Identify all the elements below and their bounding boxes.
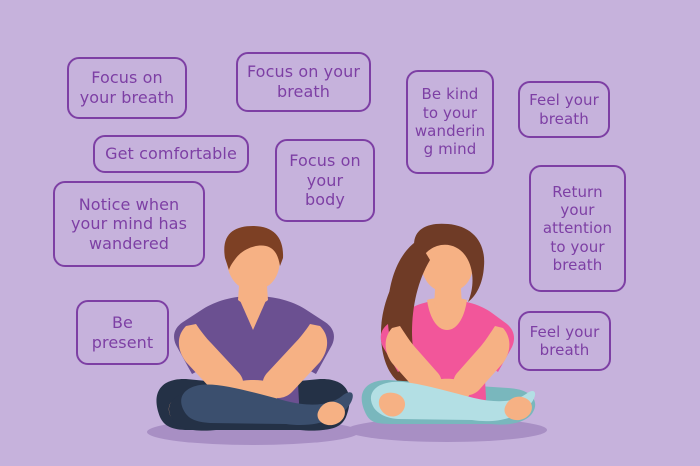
woman-hands	[424, 379, 471, 403]
man-left-leg	[156, 379, 347, 431]
woman-right-leg-back	[362, 380, 536, 425]
tip-label: Return your attention to your breath	[543, 183, 612, 274]
woman-hair-side-wave	[388, 240, 430, 388]
woman-right-foot	[504, 397, 531, 421]
tip-box-be-kind-to-your-wandering-mind[interactable]: Be kind to your wanderin g mind	[406, 70, 494, 174]
tip-box-focus-on-your-breath-top[interactable]: Focus on your breath	[236, 52, 371, 112]
tip-label: Get comfortable	[105, 144, 237, 164]
woman-right-arm	[454, 326, 510, 395]
woman-hair-back	[381, 268, 424, 386]
tip-box-get-comfortable[interactable]: Get comfortable	[93, 135, 249, 173]
tip-box-feel-your-breath-bottom-right[interactable]: Feel your breath	[518, 311, 611, 371]
tip-box-notice-when-your-mind-has-wandered[interactable]: Notice when your mind has wandered	[53, 181, 205, 267]
woman-left-foot	[379, 393, 405, 417]
tip-box-be-present[interactable]: Be present	[76, 300, 169, 365]
tip-label: Be kind to your wanderin g mind	[415, 85, 485, 158]
man-hair	[224, 226, 283, 270]
tip-box-feel-your-breath-top-right[interactable]: Feel your breath	[518, 81, 610, 138]
tip-label: Notice when your mind has wandered	[71, 195, 187, 254]
tip-label: Focus on your breath	[80, 68, 175, 107]
woman-neck	[434, 274, 462, 311]
tip-label: Focus on your body	[289, 151, 361, 210]
man-front-crossed-leg	[181, 384, 353, 425]
man-right-arm	[263, 324, 327, 398]
woman-top	[381, 300, 514, 409]
man-hands	[228, 380, 279, 407]
woman-left-arm	[386, 326, 442, 395]
man-right-foot	[317, 402, 344, 426]
woman-floor-shadow	[347, 418, 547, 442]
woman-hair-front	[414, 224, 484, 302]
man-right-leg	[169, 379, 350, 431]
tip-label: Feel your breath	[529, 91, 599, 128]
man-left-arm	[179, 324, 243, 398]
woman-front-crossed-leg	[371, 382, 535, 421]
tip-box-focus-on-your-breath-left[interactable]: Focus on your breath	[67, 57, 187, 119]
man-vneck-skin	[238, 295, 268, 331]
tip-label: Feel your breath	[530, 323, 600, 360]
tip-label: Be present	[92, 313, 154, 352]
meditating-woman-figure	[347, 224, 547, 442]
tip-box-return-your-attention-to-your-breath[interactable]: Return your attention to your breath	[529, 165, 626, 292]
man-floor-shadow	[147, 419, 359, 445]
tip-box-focus-on-your-body[interactable]: Focus on your body	[275, 139, 375, 222]
man-left-foot	[169, 399, 196, 424]
man-neck	[238, 272, 268, 305]
woman-head	[420, 228, 474, 292]
mindfulness-illustration-scene: Focus on your breath Focus on your breat…	[0, 0, 700, 466]
man-shirt	[174, 296, 334, 413]
tip-label: Focus on your breath	[247, 62, 360, 101]
woman-neckline-skin	[427, 298, 467, 330]
man-head	[226, 232, 280, 290]
